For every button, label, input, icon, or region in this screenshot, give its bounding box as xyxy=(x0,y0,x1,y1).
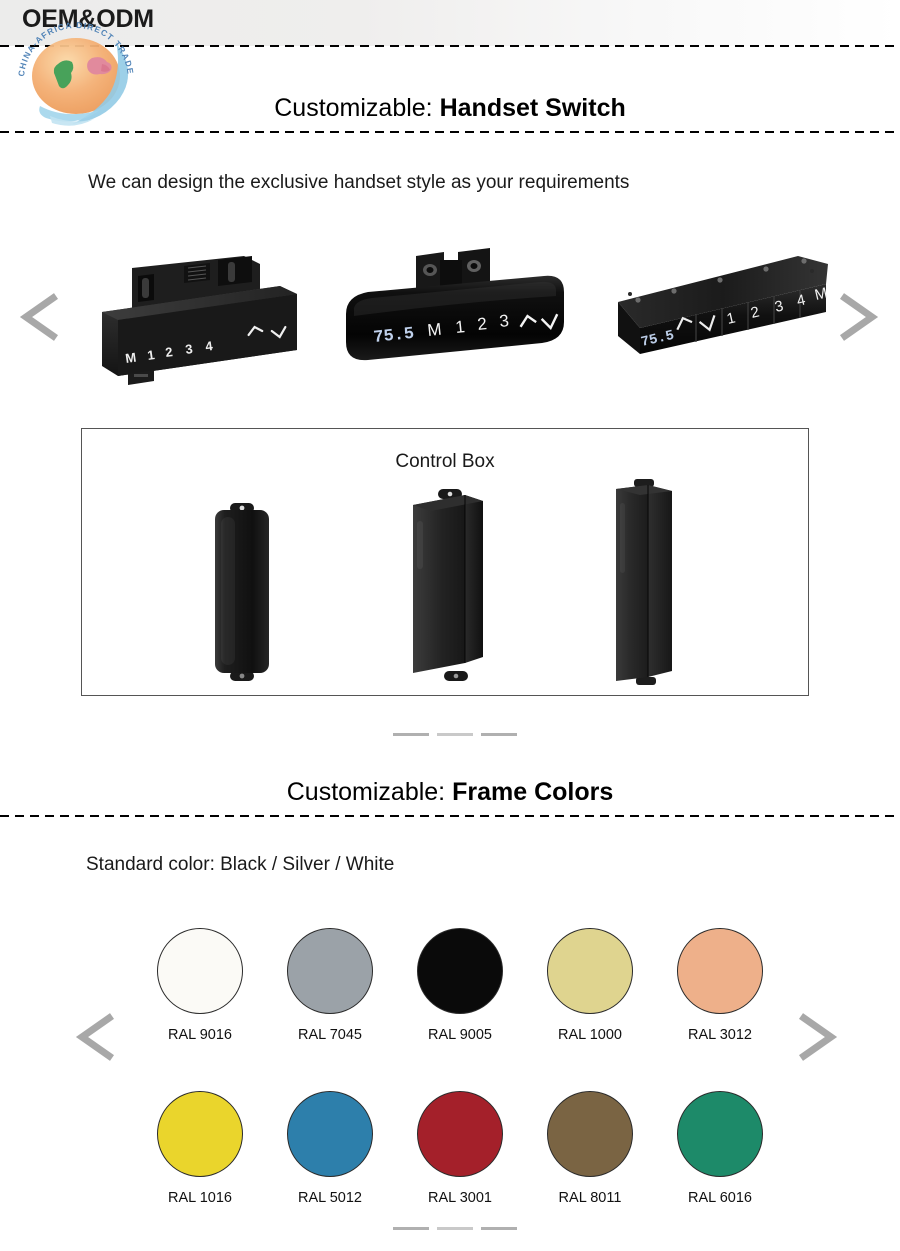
carousel-dot-2[interactable] xyxy=(437,733,473,736)
section-divider-colors xyxy=(0,815,900,817)
carousel-dot-3[interactable] xyxy=(481,733,517,736)
swatch-cell[interactable]: RAL 1000 xyxy=(540,928,640,1043)
color-swatch-ral7045[interactable] xyxy=(287,928,373,1014)
color-swatch-ral9005[interactable] xyxy=(417,928,503,1014)
color-swatch-ral3001[interactable] xyxy=(417,1091,503,1177)
swatch-row-1: RAL 9016 RAL 7045 RAL 9005 RAL 1000 RAL … xyxy=(150,928,770,1043)
carousel-dot-1[interactable] xyxy=(393,733,429,736)
carousel-dots-colors[interactable] xyxy=(393,1227,517,1230)
section-divider-handset xyxy=(0,131,900,133)
swatch-cell[interactable]: RAL 5012 xyxy=(280,1091,380,1206)
swatch-row-2: RAL 1016 RAL 5012 RAL 3001 RAL 8011 RAL … xyxy=(150,1091,770,1206)
swatch-cell[interactable]: RAL 9016 xyxy=(150,928,250,1043)
handset-switch-front[interactable]: M 1 2 3 4 xyxy=(92,250,342,395)
color-swatch-ral8011[interactable] xyxy=(547,1091,633,1177)
handset-switch-led[interactable]: 75.5 M 1 2 3 xyxy=(332,244,582,374)
frame-colors-subtitle: Standard color: Black / Silver / White xyxy=(86,854,394,876)
swatch-cell[interactable]: RAL 7045 xyxy=(280,928,380,1043)
color-swatch-ral3012[interactable] xyxy=(677,928,763,1014)
control-box-angled[interactable] xyxy=(407,487,493,683)
swatch-label: RAL 5012 xyxy=(280,1190,380,1206)
swatch-cell[interactable]: RAL 8011 xyxy=(540,1091,640,1206)
swatch-label: RAL 9016 xyxy=(150,1027,250,1043)
swatch-label: RAL 3012 xyxy=(670,1027,770,1043)
svg-text:M: M xyxy=(124,350,137,366)
page-root: OEM&ODM CHINA-AFRICA DIRECT TRADE PLATFO… xyxy=(0,0,900,1251)
swatch-label: RAL 9005 xyxy=(410,1027,510,1043)
control-box-flat[interactable] xyxy=(207,501,277,681)
control-box-side[interactable] xyxy=(602,477,686,687)
section-heading-handset: Customizable: Handset Switch xyxy=(0,94,900,123)
color-swatch-ral6016[interactable] xyxy=(677,1091,763,1177)
top-divider xyxy=(0,45,900,47)
carousel-dot-2[interactable] xyxy=(437,1227,473,1230)
swatch-cell[interactable]: RAL 3001 xyxy=(410,1091,510,1206)
swatch-label: RAL 6016 xyxy=(670,1190,770,1206)
control-box-title: Control Box xyxy=(82,451,808,473)
handset-switch-angled[interactable]: 75.5 1 2 3 4 M xyxy=(600,250,850,370)
color-swatch-ral9016[interactable] xyxy=(157,928,243,1014)
page-title: OEM&ODM xyxy=(22,5,154,34)
section-heading-colors: Customizable: Frame Colors xyxy=(0,778,900,807)
color-swatch-ral1016[interactable] xyxy=(157,1091,243,1177)
svg-text:M: M xyxy=(426,320,442,340)
svg-text:2: 2 xyxy=(476,314,487,334)
heading-main: Handset Switch xyxy=(440,94,626,122)
handset-subtitle: We can design the exclusive handset styl… xyxy=(88,172,629,194)
swatch-label: RAL 3001 xyxy=(410,1190,510,1206)
heading-main-colors: Frame Colors xyxy=(452,778,613,806)
swatch-cell[interactable]: RAL 3012 xyxy=(670,928,770,1043)
control-box-panel: Control Box xyxy=(81,428,809,696)
color-swatch-ral5012[interactable] xyxy=(287,1091,373,1177)
heading-prefix-colors: Customizable: xyxy=(287,778,452,806)
color-swatch-ral1000[interactable] xyxy=(547,928,633,1014)
swatch-label: RAL 8011 xyxy=(540,1190,640,1206)
svg-text:1: 1 xyxy=(454,317,465,337)
heading-prefix: Customizable: xyxy=(274,94,439,122)
swatch-label: RAL 7045 xyxy=(280,1027,380,1043)
carousel-dots-handset[interactable] xyxy=(393,733,517,736)
carousel-dot-1[interactable] xyxy=(393,1227,429,1230)
swatch-label: RAL 1000 xyxy=(540,1027,640,1043)
carousel-dot-3[interactable] xyxy=(481,1227,517,1230)
color-swatch-grid: RAL 9016 RAL 7045 RAL 9005 RAL 1000 RAL … xyxy=(150,928,770,1206)
carousel-next-colors[interactable] xyxy=(795,1008,841,1066)
swatch-label: RAL 1016 xyxy=(150,1190,250,1206)
svg-text:3: 3 xyxy=(498,311,509,331)
swatch-cell[interactable]: RAL 6016 xyxy=(670,1091,770,1206)
carousel-prev-handset[interactable] xyxy=(16,288,62,346)
swatch-cell[interactable]: RAL 1016 xyxy=(150,1091,250,1206)
swatch-cell[interactable]: RAL 9005 xyxy=(410,928,510,1043)
handset-product-row: M 1 2 3 4 xyxy=(60,240,850,400)
carousel-prev-colors[interactable] xyxy=(72,1008,118,1066)
svg-text:M: M xyxy=(813,285,829,304)
